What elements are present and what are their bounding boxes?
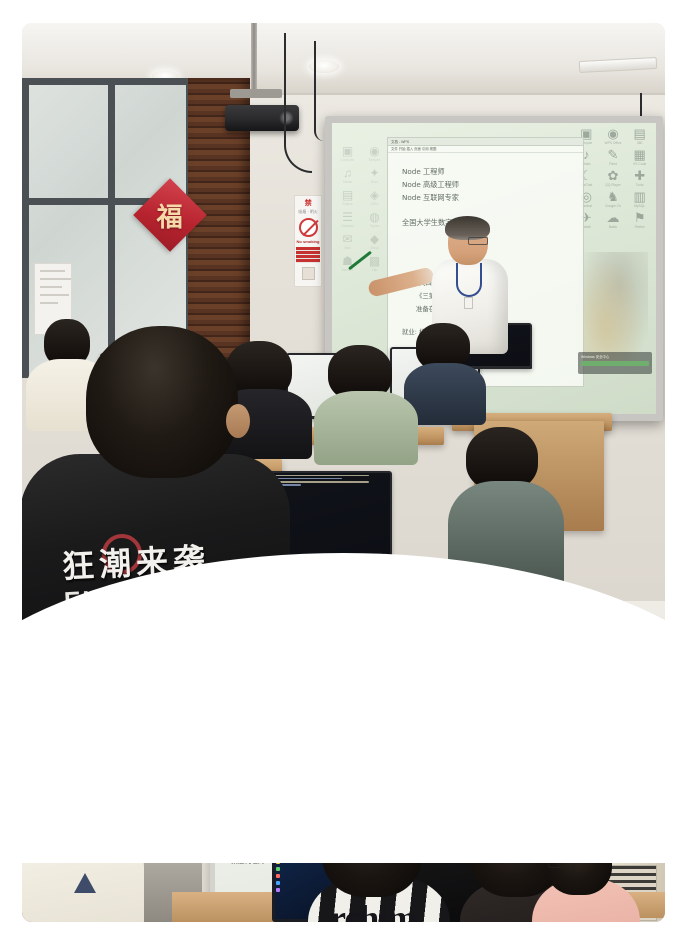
doc-line: Node 互联网专家 xyxy=(402,191,575,204)
cable xyxy=(565,667,581,817)
presenter-hair xyxy=(417,705,473,731)
desktop-icon[interactable]: ♞ Google Ch xyxy=(601,190,626,208)
sign-text-block xyxy=(296,247,320,263)
no-smoking-subtitle: 吸烟 · 明火 xyxy=(298,209,318,215)
id-badge xyxy=(464,297,473,309)
taskbar-icons[interactable] xyxy=(276,850,322,854)
student-head xyxy=(86,326,238,478)
desktop-icon[interactable]: ✎ Paint xyxy=(601,148,626,166)
student-ear xyxy=(226,404,250,438)
desktop-left-icons[interactable]: ▣ Computer ◉ Network ♫ Media ✦ Docs xyxy=(335,145,387,272)
taskbar-title: Windows 安全中心 xyxy=(578,352,652,359)
photo-collage: 福 禁 吸烟 · 明火 No smoking xyxy=(0,0,687,942)
projector-mount-rod xyxy=(251,23,257,95)
student xyxy=(546,829,642,922)
desktop-icon[interactable]: ◈ IDEA xyxy=(362,189,387,206)
glasses-icon xyxy=(468,237,488,245)
student: rchim xyxy=(322,801,452,922)
cable xyxy=(314,41,324,141)
window-ribbon[interactable]: 文件 开始 插入 页面 引用 视图 xyxy=(388,146,583,153)
desktop-icon[interactable]: ▣ Computer xyxy=(335,145,360,162)
desktop-icon[interactable]: ✚ Tools xyxy=(627,169,652,187)
desktop-icon[interactable]: ▤ Eclipse xyxy=(335,189,360,206)
progress-bar xyxy=(581,361,649,366)
shirt-text: rchim xyxy=(330,897,416,922)
foreground-student: 狂潮来袭 ELEMENT xyxy=(50,326,270,626)
window-titlebar: 文档 - WPS xyxy=(388,138,583,146)
projector-mount-arm xyxy=(230,89,282,98)
doc-line: Node 高级工程师 xyxy=(402,178,575,191)
desktop-icon[interactable]: ◆ Setup xyxy=(362,233,387,250)
glasses-icon xyxy=(548,859,574,868)
fu-character: 福 xyxy=(157,196,183,233)
no-smoking-icon xyxy=(299,218,318,237)
desktop-wallpaper-art xyxy=(576,252,648,362)
student xyxy=(32,765,144,922)
student xyxy=(410,323,480,419)
ac-display[interactable] xyxy=(613,793,647,809)
desktop-icon[interactable]: ✿ QQ Player xyxy=(601,169,626,187)
desktop-shortcut-icons[interactable] xyxy=(276,860,280,892)
cable xyxy=(284,33,312,173)
desktop-icon[interactable]: ▤ 360 xyxy=(627,127,652,145)
no-smoking-title: 禁 xyxy=(199,699,210,715)
tshirt-chinese-text: 狂潮来袭 xyxy=(61,534,211,588)
desktop-icon[interactable]: ▦ VS Code xyxy=(627,148,652,166)
wall-socket xyxy=(197,779,211,793)
doc-line: Node 工程师 xyxy=(402,165,575,178)
desktop-icon[interactable]: ✉ Mail xyxy=(335,233,360,250)
desktop-right-icons[interactable]: ▣ Recycle ◉ WPS Office ▤ 360 ♪ Music xyxy=(574,127,652,229)
no-smoking-title: 禁 xyxy=(305,198,312,208)
bottom-photo: 禁 吸烟 · 明火 No smoking 2 奇思妙想 姜丽宇 代码不止, 奇思… xyxy=(22,601,665,922)
no-smoking-sign: 禁 吸烟 · 明火 No smoking xyxy=(294,195,322,287)
lanyard xyxy=(456,263,482,297)
desktop-icon[interactable]: ◉ WPS Office xyxy=(601,127,626,145)
no-smoking-english: No smoking xyxy=(297,239,320,244)
collage-card: 福 禁 吸烟 · 明火 No smoking xyxy=(22,23,665,922)
desktop-icon[interactable]: ⚑ Firefox xyxy=(627,211,652,229)
student xyxy=(322,345,410,457)
desktop-icon[interactable]: ♫ Media xyxy=(335,167,360,184)
desktop-icon[interactable]: ✦ Docs xyxy=(362,167,387,184)
student xyxy=(452,427,556,587)
glasses-icon xyxy=(424,733,466,743)
glasses-icon xyxy=(90,799,120,809)
desktop-icon[interactable]: ◍ Typora xyxy=(362,211,387,228)
wall-socket xyxy=(302,267,315,280)
desktop-icon[interactable]: ☰ Notepad xyxy=(335,211,360,228)
ac-vent xyxy=(601,707,657,773)
desktop-icon[interactable]: ▥ MySQL xyxy=(627,190,652,208)
desktop-icon[interactable]: ☁ Baidu xyxy=(601,211,626,229)
top-photo: 福 禁 吸烟 · 明火 No smoking xyxy=(22,23,665,628)
desktop-icon[interactable]: ◉ Network xyxy=(362,145,387,162)
taskbar-notification[interactable]: Windows 安全中心 xyxy=(578,352,652,374)
